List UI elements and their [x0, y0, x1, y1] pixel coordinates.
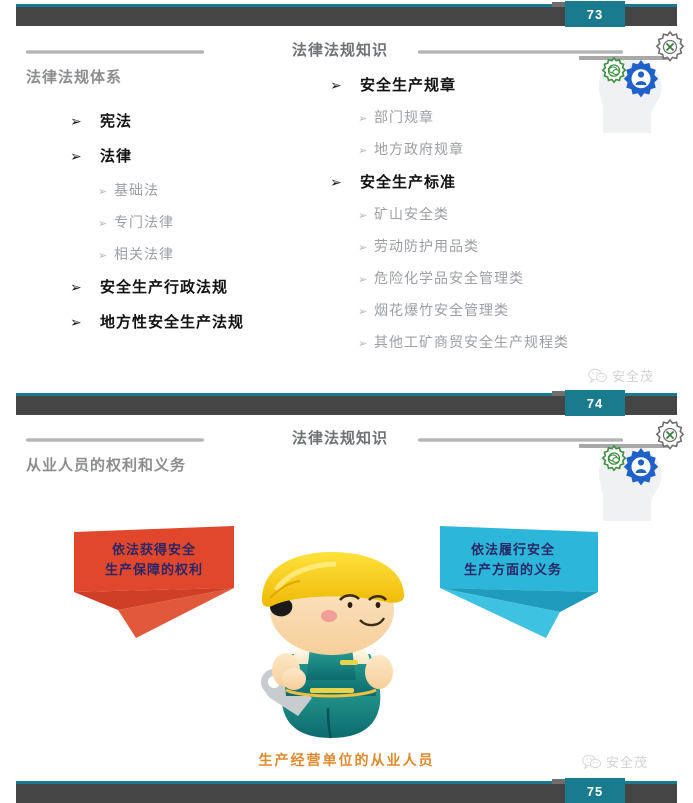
presentation-page: 73 法律法规知识 法律法规体系: [0, 0, 693, 803]
bullet-column-left: ➢ 宪法 ➢ 法律 ➢ 基础法 ➢ 专门法律 ➢ 相关法律 ➢ 安全生产行政法规: [70, 110, 370, 346]
callout-left: 依法获得安全 生产保障的权利: [74, 526, 234, 638]
bullet-arrow-icon: ➢: [358, 273, 374, 286]
header-rule-extension: [579, 56, 671, 60]
bullet-item: ➢ 烟花爆竹安全管理类: [330, 300, 670, 320]
bullet-item: ➢ 安全生产标准: [330, 171, 670, 192]
bullet-label: 安全生产规章: [360, 74, 456, 95]
header-title: 法律法规知识: [292, 39, 388, 60]
wechat-icon: [588, 368, 608, 384]
bullet-arrow-icon: ➢: [330, 77, 360, 94]
callout-right-line2: 生产方面的义务: [428, 560, 598, 580]
header-title: 法律法规知识: [292, 427, 388, 448]
bullet-label: 危险化学品安全管理类: [374, 268, 524, 288]
bullet-arrow-icon: ➢: [358, 144, 374, 157]
mascot-right-arm: [365, 655, 393, 689]
bullet-item: ➢ 安全生产行政法规: [70, 276, 370, 297]
bullet-label: 地方性安全生产法规: [100, 311, 244, 332]
bullet-arrow-icon: ➢: [98, 249, 114, 262]
callout-right-text: 依法履行安全 生产方面的义务: [428, 540, 598, 580]
bullet-arrow-icon: ➢: [358, 337, 374, 350]
callout-right: 依法履行安全 生产方面的义务: [428, 526, 598, 638]
callout-left-line1: 依法获得安全: [112, 542, 196, 557]
bullet-label: 安全生产标准: [360, 171, 456, 192]
watermark: 安全茂: [582, 752, 648, 771]
slide-subtitle: 法律法规体系: [26, 66, 122, 87]
bullet-item: ➢ 劳动防护用品类: [330, 236, 670, 256]
mascot-blush: [321, 610, 337, 622]
bullet-arrow-icon: ➢: [358, 241, 374, 254]
header-rule-left: [26, 438, 204, 442]
bullet-arrow-icon: ➢: [98, 185, 114, 198]
header-rule-left: [26, 50, 204, 54]
bullet-label: 部门规章: [374, 107, 434, 127]
callout-left-line2: 生产保障的权利: [74, 560, 234, 580]
page-number-badge-74: 74: [565, 390, 625, 416]
bullet-label: 基础法: [114, 180, 159, 200]
bullet-arrow-icon: ➢: [358, 305, 374, 318]
wechat-icon: [582, 754, 602, 770]
bullet-label: 其他工矿商贸安全生产规程类: [374, 332, 569, 352]
bullet-item: ➢ 其他工矿商贸安全生产规程类: [330, 332, 670, 352]
bullet-arrow-icon: ➢: [70, 279, 100, 296]
watermark: 安全茂: [588, 366, 654, 385]
mascot-right-eye: [376, 602, 381, 608]
bullet-arrow-icon: ➢: [358, 112, 374, 125]
watermark-label: 安全茂: [612, 366, 654, 385]
watermark-label: 安全茂: [606, 752, 648, 771]
bullet-item: ➢ 专门法律: [70, 212, 370, 232]
mascot-left-eye: [348, 602, 353, 608]
bullet-arrow-icon: ➢: [358, 209, 374, 222]
bullet-item: ➢ 基础法: [70, 180, 370, 200]
bullet-label: 矿山安全类: [374, 204, 449, 224]
bullet-label: 宪法: [100, 110, 132, 131]
bullet-label: 专门法律: [114, 212, 174, 232]
head-gears-decoration: [579, 416, 689, 521]
bullet-label: 烟花爆竹安全管理类: [374, 300, 509, 320]
page-number-badge-73: 73: [565, 1, 625, 27]
bullet-label: 相关法律: [114, 244, 174, 264]
bullet-label: 法律: [100, 145, 132, 166]
bullet-arrow-icon: ➢: [98, 217, 114, 230]
bullet-item: ➢ 部门规章: [330, 107, 670, 127]
bullet-item: ➢ 地方政府规章: [330, 139, 670, 159]
bullet-arrow-icon: ➢: [70, 314, 100, 331]
bullet-column-right: ➢ 安全生产规章 ➢ 部门规章 ➢ 地方政府规章 ➢ 安全生产标准 ➢ 矿山安全…: [330, 74, 670, 364]
callout-left-text: 依法获得安全 生产保障的权利: [74, 540, 234, 580]
bullet-item: ➢ 安全生产规章: [330, 74, 670, 95]
bullet-item: ➢ 法律: [70, 145, 370, 166]
bullet-label: 地方政府规章: [374, 139, 464, 159]
header-rule-extension: [579, 444, 671, 448]
slide-subtitle: 从业人员的权利和义务: [26, 454, 186, 475]
bullet-item: ➢ 地方性安全生产法规: [70, 311, 370, 332]
bullet-item: ➢ 相关法律: [70, 244, 370, 264]
bullet-item: ➢ 危险化学品安全管理类: [330, 268, 670, 288]
bullet-item: ➢ 矿山安全类: [330, 204, 670, 224]
callout-right-line1: 依法履行安全: [471, 542, 555, 557]
page-number-badge-75: 75: [565, 778, 625, 803]
bullet-label: 劳动防护用品类: [374, 236, 479, 256]
bullet-arrow-icon: ➢: [330, 174, 360, 191]
bullet-item: ➢ 宪法: [70, 110, 370, 131]
bullet-label: 安全生产行政法规: [100, 276, 228, 297]
bullet-arrow-icon: ➢: [70, 148, 100, 165]
bullet-arrow-icon: ➢: [70, 113, 100, 130]
safety-worker-mascot: [236, 548, 426, 748]
slide-73: 法律法规知识 法律法规体系: [0, 30, 693, 390]
